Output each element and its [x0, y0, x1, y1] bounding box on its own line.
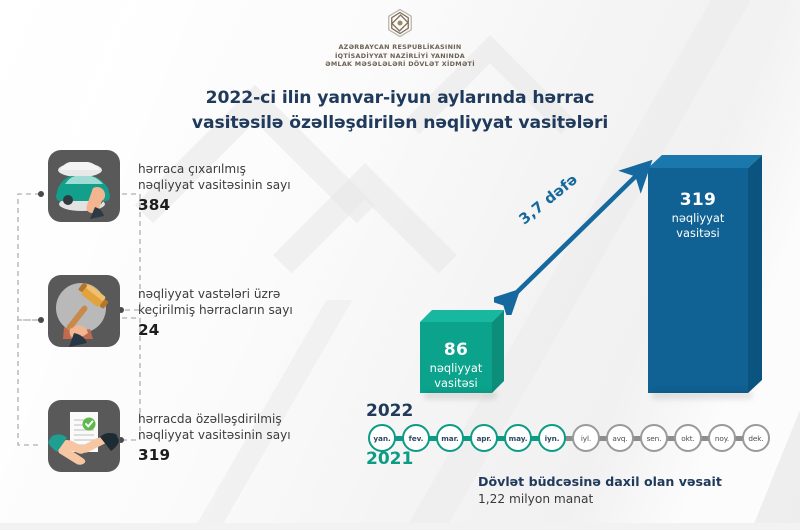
fact-list: hərraca çıxarılmış nəqliyyat vasitəsinin…: [0, 150, 300, 525]
timeline-month-label: fev.: [409, 434, 424, 443]
bar-shadow: [652, 391, 752, 399]
budget-note: Dövlət büdcəsinə daxil olan vəsait 1,22 …: [478, 474, 722, 506]
timeline-month-label: apr.: [476, 434, 491, 443]
timeline-month-label: iyl.: [581, 434, 591, 443]
timeline-month-5[interactable]: iyn.: [538, 424, 566, 452]
timeline-month-label: mar.: [441, 434, 458, 443]
handshake-contract-icon: [48, 400, 120, 472]
bar-2021-value: 86: [420, 340, 492, 360]
fact-item-1: nəqliyyat vastələri üzrə keçirilmiş hərr…: [0, 275, 300, 400]
timeline-month-label: avq.: [612, 434, 627, 443]
budget-note-title: Dövlət büdcəsinə daxil olan vəsait: [478, 474, 722, 489]
bar-2022-unit-1: nəqliyyat: [648, 211, 748, 225]
timeline-month-10[interactable]: noy.: [708, 424, 736, 452]
fact-item-2: hərracda özəlləşdirilmiş nəqliyyat vasit…: [0, 400, 300, 525]
fact-line-2: keçirilmiş hərracların sayı: [138, 302, 293, 319]
bar-2021: 86 nəqliyyat vasitəsi: [420, 310, 492, 393]
fact-value: 384: [138, 197, 291, 214]
car-auction-icon: [48, 150, 120, 222]
logo-line-1: AZƏRBAYCAN RESPUBLİKASININ: [325, 43, 475, 52]
timeline-month-label: may.: [509, 434, 528, 443]
timeline-month-9[interactable]: okt.: [674, 424, 702, 452]
page-title: 2022-ci ilin yanvar-iyun aylarında hərra…: [0, 86, 800, 136]
year-label-2021: 2021: [366, 449, 413, 469]
bar-2021-label: 86 nəqliyyat vasitəsi: [420, 340, 492, 390]
fact-text-2: hərracda özəlləşdirilmiş nəqliyyat vasit…: [138, 409, 291, 464]
timeline-month-label: noy.: [715, 434, 729, 443]
fact-item-0: hərraca çıxarılmış nəqliyyat vasitəsinin…: [0, 150, 300, 275]
timeline-month-0[interactable]: yan.: [368, 424, 396, 452]
timeline-month-3[interactable]: apr.: [470, 424, 498, 452]
timeline-month-4[interactable]: may.: [504, 424, 532, 452]
timeline-month-label: yan.: [373, 434, 390, 443]
fact-value: 319: [138, 447, 291, 464]
timeline-month-label: sen.: [647, 434, 662, 443]
fact-line-1: nəqliyyat vastələri üzrə: [138, 286, 293, 303]
timeline-month-8[interactable]: sen.: [640, 424, 668, 452]
bar-2022: 319 nəqliyyat vasitəsi: [648, 155, 748, 393]
timeline-month-1[interactable]: fev.: [402, 424, 430, 452]
timeline-month-11[interactable]: dek.: [742, 424, 770, 452]
bar-2022-label: 319 nəqliyyat vasitəsi: [648, 190, 748, 240]
title-line-2: vasitəsilə özəlləşdirilən nəqliyyat vasi…: [0, 111, 800, 136]
logo-line-2: İQTİSADİYYAT NAZİRLİYİ YANINDA: [325, 52, 475, 61]
bar-shadow: [424, 391, 496, 399]
gavel-icon: [48, 275, 120, 347]
fact-line-1: hərracda özəlləşdirilmiş: [138, 411, 291, 428]
timeline-month-label: iyn.: [545, 434, 560, 443]
logo-line-3: ƏMLAK MƏSƏLƏLƏRİ DÖVLƏT XİDMƏTİ: [325, 60, 475, 69]
budget-note-value: 1,22 milyon manat: [478, 492, 722, 506]
timeline-month-2[interactable]: mar.: [436, 424, 464, 452]
bar-2021-unit-2: vasitəsi: [420, 376, 492, 390]
organization-logo: AZƏRBAYCAN RESPUBLİKASININ İQTİSADİYYAT …: [0, 8, 800, 69]
year-label-2022: 2022: [366, 401, 413, 421]
timeline-month-label: dek.: [748, 434, 763, 443]
interlocking-knot-emblem-icon: [383, 8, 417, 38]
bar-2022-unit-2: vasitəsi: [648, 226, 748, 240]
timeline-track: yan. fev. mar. apr. may. iyn. iyl. avq. …: [368, 424, 768, 452]
timeline-month-7[interactable]: avq.: [606, 424, 634, 452]
fact-line-2: nəqliyyat vasitəsinin sayı: [138, 177, 291, 194]
timeline-month-label: okt.: [681, 434, 694, 443]
fact-line-1: hərraca çıxarılmış: [138, 161, 291, 178]
timeline-month-6[interactable]: iyl.: [572, 424, 600, 452]
bar-2021-unit-1: nəqliyyat: [420, 361, 492, 375]
bar-2022-value: 319: [648, 190, 748, 210]
fact-line-2: nəqliyyat vasitəsinin sayı: [138, 427, 291, 444]
title-line-1: 2022-ci ilin yanvar-iyun aylarında hərra…: [0, 86, 800, 111]
month-timeline[interactable]: yan. fev. mar. apr. may. iyn. iyl. avq. …: [368, 424, 768, 452]
fact-text-1: nəqliyyat vastələri üzrə keçirilmiş hərr…: [138, 284, 293, 339]
fact-text-0: hərraca çıxarılmış nəqliyyat vasitəsinin…: [138, 159, 291, 214]
fact-value: 24: [138, 322, 293, 339]
